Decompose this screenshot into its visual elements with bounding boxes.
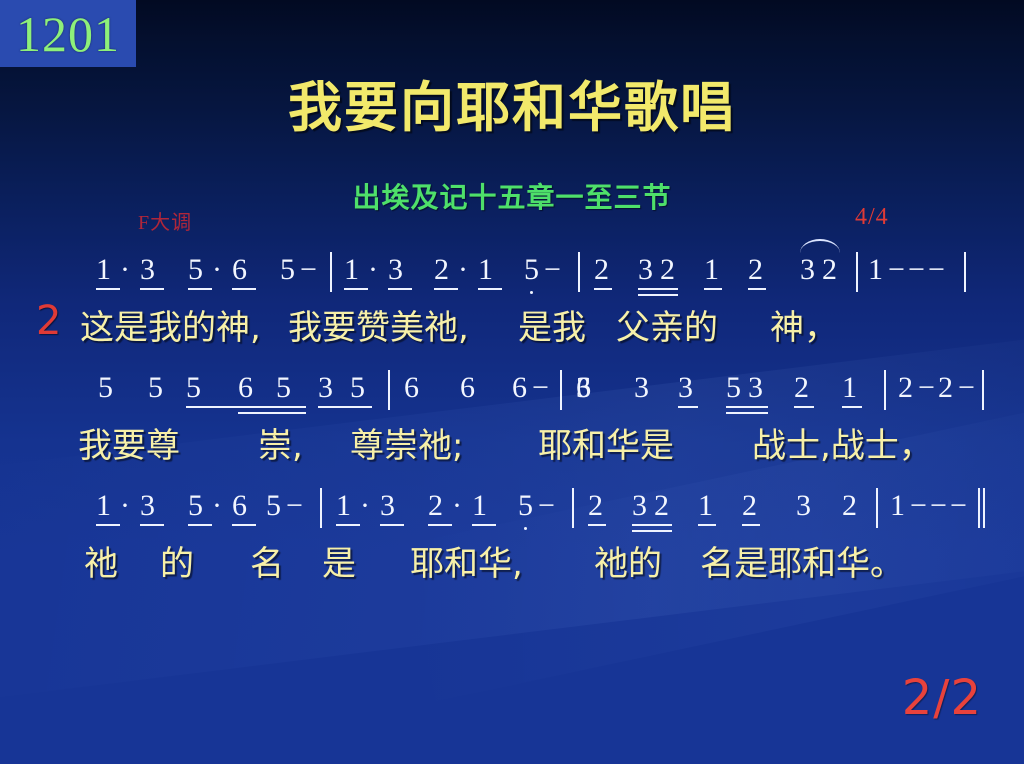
note-glyph: −	[950, 484, 967, 528]
barline	[330, 252, 332, 292]
lyric-run: 祂	[84, 536, 118, 585]
barline	[560, 370, 562, 410]
note-glyph: −	[532, 366, 549, 410]
lyric-run: 耶和华,	[410, 536, 523, 585]
song-number: 1201	[16, 9, 120, 59]
lyric-run: 名	[250, 536, 284, 585]
note-glyph: ·	[120, 248, 130, 292]
lyric-run: 是	[322, 536, 356, 585]
note-glyph: 3	[140, 484, 155, 528]
note-glyph: 2	[938, 366, 953, 410]
barline	[876, 488, 878, 528]
lyrics-row: 祂的名是耶和华,祂的名是耶和华。	[0, 536, 1024, 602]
note-glyph: 3	[632, 484, 647, 528]
note-glyph: 2	[898, 366, 913, 410]
note-glyph: −	[958, 366, 975, 410]
lyric-run: 神，	[770, 300, 838, 349]
notation-row: 1·35·65−1·32·15−23212321−−−	[0, 484, 1024, 536]
notation-row: 5556535666−633353212−2−	[0, 366, 1024, 418]
barline	[388, 370, 390, 410]
note-glyph: 2	[794, 366, 809, 410]
note-glyph: ·	[360, 484, 370, 528]
slide-canvas: 1201 我要向耶和华歌唱 出埃及记十五章一至三节 F大调 4/4 1·35·6…	[0, 0, 1024, 764]
note-glyph: ·	[368, 248, 378, 292]
lyric-run: 的	[160, 536, 194, 585]
note-glyph: 5	[148, 366, 163, 410]
note-glyph: 5	[186, 366, 201, 410]
lyric-run: 耶和华是	[538, 418, 674, 467]
note-glyph: −	[910, 484, 927, 528]
note-glyph: 1	[478, 248, 493, 292]
barline	[856, 252, 858, 292]
lyric-run: 我要赞美祂,	[288, 300, 469, 349]
note-glyph: 5	[276, 366, 291, 410]
barline	[572, 488, 574, 528]
lyrics-row: 我要尊崇,尊崇祂;耶和华是战士,战士，	[0, 418, 1024, 484]
note-glyph: ·	[452, 484, 462, 528]
music-system: 5556535666−633353212−2− 我要尊崇,尊崇祂;耶和华是战士,…	[0, 366, 1024, 484]
note-glyph: ·	[212, 248, 222, 292]
page-title: 我要向耶和华歌唱	[0, 80, 1024, 137]
note-glyph: ·	[120, 484, 130, 528]
barline	[964, 252, 966, 292]
final-barline	[978, 488, 980, 528]
lyric-run: 我要尊	[78, 418, 180, 467]
note-glyph: 2	[428, 484, 443, 528]
note-glyph: 5	[518, 484, 533, 528]
note-glyph: 5	[726, 366, 741, 410]
lyric-run: 祂的	[594, 536, 662, 585]
key-signature: F大调	[138, 206, 192, 235]
lyric-run: 战士,战士，	[752, 418, 933, 467]
note-glyph: 1	[96, 248, 111, 292]
note-glyph: 3	[748, 366, 763, 410]
lyric-run: 父亲的	[616, 300, 718, 349]
barline	[320, 488, 322, 528]
note-glyph: ·	[458, 248, 468, 292]
lyric-run: 名是耶和华。	[700, 536, 904, 585]
note-glyph: 6	[404, 366, 419, 410]
barline	[982, 370, 984, 410]
time-signature: 4/4	[855, 204, 889, 231]
note-glyph: 3	[318, 366, 333, 410]
note-glyph: 3	[634, 366, 649, 410]
note-glyph: −	[544, 248, 561, 292]
note-glyph: 3	[638, 248, 653, 292]
barline	[578, 252, 580, 292]
note-glyph: 5	[524, 248, 539, 292]
note-glyph: 6	[232, 484, 247, 528]
note-glyph: 2	[822, 248, 837, 292]
music-system: 1·35·65−1·32·15−23212321−−− 祂的名是耶和华,祂的名是…	[0, 484, 1024, 602]
note-glyph: −	[888, 248, 905, 292]
note-glyph: 2	[434, 248, 449, 292]
barline	[884, 370, 886, 410]
music-systems: 1·35·65−1·32·15−23212321−−− 2 这是我的神,我要赞美…	[0, 248, 1024, 602]
note-glyph: 2	[742, 484, 757, 528]
notation-row: 1·35·65−1·32·15−23212321−−−	[0, 248, 1024, 300]
note-glyph: −	[908, 248, 925, 292]
verse-number: 2	[36, 298, 61, 344]
note-glyph: −	[286, 484, 303, 528]
note-glyph: −	[930, 484, 947, 528]
note-glyph: 2	[588, 484, 603, 528]
note-glyph: 5	[350, 366, 365, 410]
note-glyph: 6	[512, 366, 527, 410]
note-glyph: 1	[344, 248, 359, 292]
note-glyph: 3	[800, 248, 815, 292]
note-glyph: 2	[748, 248, 763, 292]
note-glyph: 5	[98, 366, 113, 410]
note-glyph: 3	[796, 484, 811, 528]
lyric-run: 这是我的神,	[80, 300, 261, 349]
note-glyph: 5	[280, 248, 295, 292]
note-glyph: −	[538, 484, 555, 528]
lyric-run: 是我	[518, 300, 586, 349]
music-system: 1·35·65−1·32·15−23212321−−− 2 这是我的神,我要赞美…	[0, 248, 1024, 366]
note-glyph: −	[300, 248, 317, 292]
note-glyph: −	[928, 248, 945, 292]
lyric-run: 崇,	[258, 418, 303, 467]
note-glyph: 6	[238, 366, 253, 410]
lyrics-row: 2 这是我的神,我要赞美祂,是我父亲的神，	[0, 300, 1024, 366]
note-glyph: 5	[188, 248, 203, 292]
note-glyph: 3	[388, 248, 403, 292]
note-glyph: −	[918, 366, 935, 410]
note-glyph: 1	[868, 248, 883, 292]
lyric-run: 尊崇祂;	[350, 418, 463, 467]
note-glyph: 1	[472, 484, 487, 528]
note-glyph: 2	[660, 248, 675, 292]
note-glyph: 2	[654, 484, 669, 528]
note-glyph: 1	[336, 484, 351, 528]
note-glyph: 2	[842, 484, 857, 528]
note-glyph: 1	[698, 484, 713, 528]
note-glyph: 6	[460, 366, 475, 410]
note-glyph: 3	[380, 484, 395, 528]
note-glyph: 5	[266, 484, 281, 528]
note-glyph: 3	[678, 366, 693, 410]
song-number-badge: 1201	[0, 0, 136, 67]
note-glyph: 1	[96, 484, 111, 528]
note-glyph: 3	[140, 248, 155, 292]
note-glyph: 2	[594, 248, 609, 292]
note-glyph: 1	[704, 248, 719, 292]
note-glyph: 3	[576, 366, 591, 410]
note-glyph: 1	[890, 484, 905, 528]
page-indicator: 2/2	[902, 670, 982, 726]
note-glyph: 1	[842, 366, 857, 410]
note-glyph: 5	[188, 484, 203, 528]
note-glyph: 6	[232, 248, 247, 292]
note-glyph: ·	[212, 484, 222, 528]
